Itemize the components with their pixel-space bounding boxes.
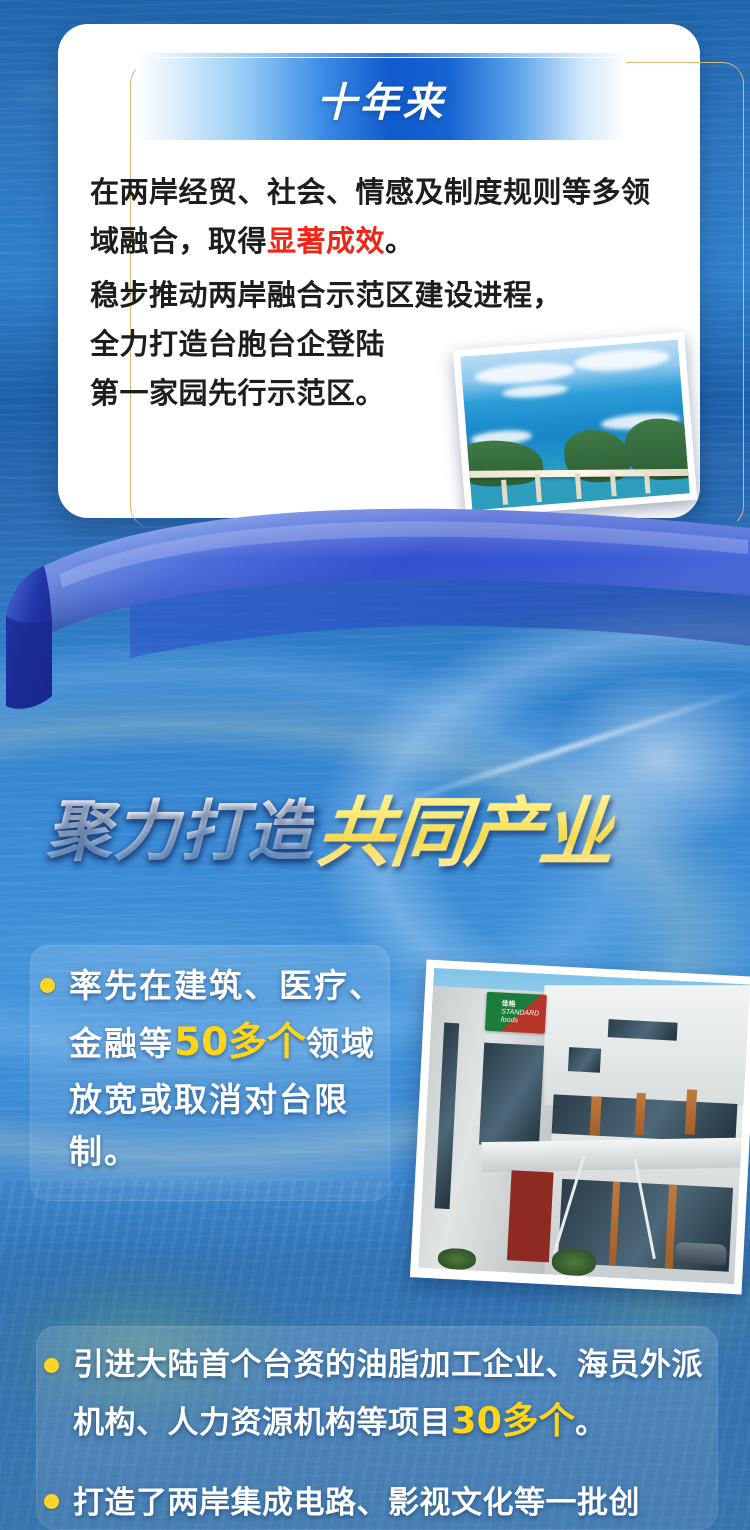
bullet-1-highlight: 50多个 bbox=[174, 1020, 306, 1065]
photo-factory-building-image: 佳格 STANDARD foods bbox=[418, 968, 749, 1284]
building-sign: 佳格 STANDARD foods bbox=[485, 992, 547, 1034]
ribbon-svg bbox=[0, 470, 750, 730]
section-banner: 十年来 bbox=[136, 58, 626, 140]
bullet-2-part-b: 。 bbox=[575, 1405, 607, 1441]
card-paragraph-2: 稳步推动两岸融合示范区建设进程， bbox=[90, 271, 670, 320]
bullet-dot-icon bbox=[44, 1494, 59, 1509]
bullet-item-2: 引进大陆首个台资的油脂加工企业、海员外派机构、人力资源机构等项目30多个。 bbox=[44, 1340, 714, 1452]
bullet-2-highlight: 30多个 bbox=[451, 1399, 575, 1442]
headline-gold-text: 共同产业 bbox=[312, 771, 620, 881]
bullet-2-part-a: 引进大陆首个台资的油脂加工企业、海员外派机构、人力资源机构等项目 bbox=[73, 1347, 703, 1441]
headline-silver-text: 聚力打造 bbox=[46, 778, 314, 874]
bullet-item-2-text: 引进大陆首个台资的油脂加工企业、海员外派机构、人力资源机构等项目30多个。 bbox=[73, 1340, 714, 1452]
section-headline: 聚力打造 共同产业 bbox=[46, 778, 746, 874]
infographic-canvas: 十年来 在两岸经贸、社会、情感及制度规则等多领域融合，取得显著成效。 稳步推动两… bbox=[0, 0, 750, 1530]
card-paragraph-1: 在两岸经贸、社会、情感及制度规则等多领域融合，取得显著成效。 bbox=[90, 168, 670, 265]
photo-factory-building: 佳格 STANDARD foods bbox=[410, 960, 750, 1295]
bullet-dot-icon bbox=[44, 1358, 59, 1373]
bullet-item-1: 率先在建筑、医疗、金融等50多个领域放宽或取消对台限制。 bbox=[40, 960, 386, 1178]
card-paragraph-1-highlight: 显著成效 bbox=[267, 224, 385, 258]
bullet-item-1-text: 率先在建筑、医疗、金融等50多个领域放宽或取消对台限制。 bbox=[69, 960, 386, 1178]
ribbon-banner bbox=[0, 470, 750, 730]
bullet-item-3-text: 打造了两岸集成电路、影视文化等一批创 bbox=[73, 1478, 640, 1529]
bullet-dot-icon bbox=[40, 978, 55, 993]
building-sign-text: 佳格 STANDARD foods bbox=[501, 1000, 540, 1026]
banner-title: 十年来 bbox=[317, 70, 446, 128]
bullet-item-3: 打造了两岸集成电路、影视文化等一批创 bbox=[44, 1478, 714, 1529]
card-paragraph-1-end: 。 bbox=[385, 224, 415, 258]
